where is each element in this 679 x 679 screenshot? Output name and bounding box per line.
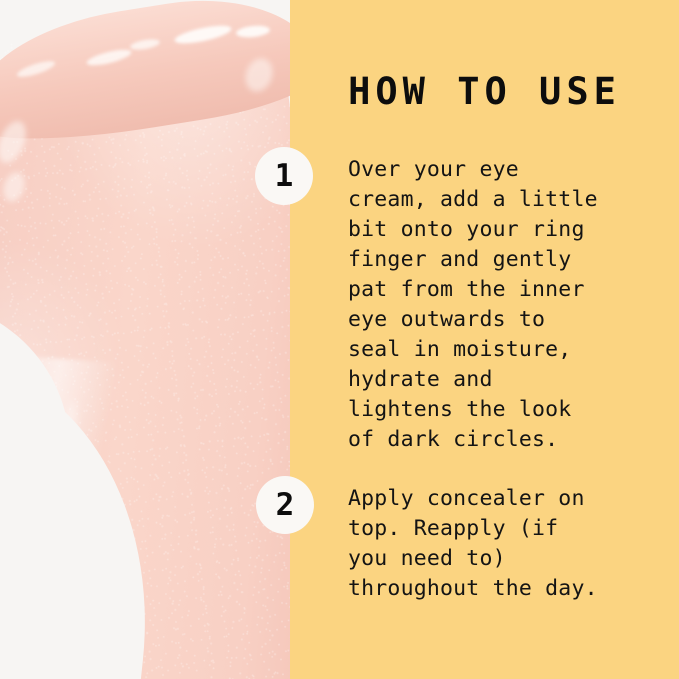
step-1-text: Over your eye cream, add a little bit on… — [348, 155, 598, 455]
step-badge-2: 2 — [256, 476, 314, 534]
step-badge-1: 1 — [255, 147, 313, 205]
step-number-2: 2 — [276, 490, 295, 521]
product-swatch-photo — [0, 0, 290, 679]
step-2-text: Apply concealer on top. Reapply (if you … — [348, 484, 598, 604]
step-number-1: 1 — [275, 161, 294, 192]
page-title: HOW TO USE — [290, 70, 679, 113]
how-to-use-infographic: HOW TO USE 1 Over your eye cream, add a … — [0, 0, 679, 679]
